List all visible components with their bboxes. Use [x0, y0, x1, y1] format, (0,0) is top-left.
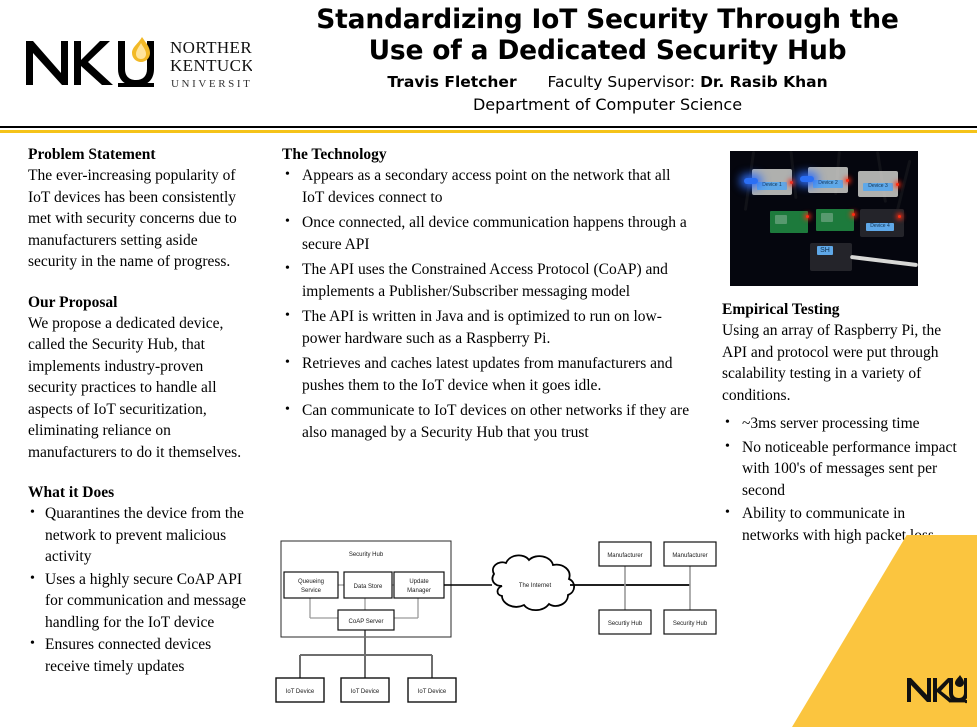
diagram-label-queueing-service-l1: Queueing: [298, 579, 324, 585]
spacer: [28, 273, 250, 293]
photo-device-label-1: Device 1: [757, 182, 787, 190]
supervisor-label: Faculty Supervisor:: [548, 73, 696, 91]
photo-device-label-5: SH: [817, 246, 833, 255]
list-the-technology: Appears as a secondary access point on t…: [282, 165, 694, 443]
page-title-line-1: Standardizing IoT Security Through the: [250, 4, 965, 35]
list-item: The API uses the Constrained Access Prot…: [282, 259, 694, 302]
poster-canvas: NORTHERN KENTUCKY UNIVERSITY Standardizi…: [0, 0, 977, 727]
poster-header: NORTHERN KENTUCKY UNIVERSITY Standardizi…: [0, 0, 977, 127]
diagram-label-manufacturer-2: Manufacturer: [672, 553, 707, 559]
diagram-label-update-manager-l2: Manager: [407, 588, 431, 594]
page-title-line-2: Use of a Dedicated Security Hub: [250, 35, 965, 66]
supervisor-name: Dr. Rasib Khan: [700, 73, 828, 91]
list-item: ~3ms server processing time: [722, 413, 962, 435]
nku-logo-svg: NORTHERN KENTUCKY UNIVERSITY: [22, 33, 252, 93]
spacer: [28, 463, 250, 483]
photo-device-label-3: Device 3: [863, 183, 893, 191]
list-item: Retrieves and caches latest updates from…: [282, 353, 694, 396]
photo-device-label-2: Device 2: [813, 180, 843, 188]
byline: Travis Fletcher Faculty Supervisor: Dr. …: [250, 72, 965, 93]
list-item: Uses a highly secure CoAP API for commun…: [28, 569, 250, 634]
left-column: Problem Statement The ever-increasing po…: [28, 145, 250, 678]
header-rule-black: [0, 126, 977, 128]
diagram-label-internet: The Internet: [519, 583, 552, 589]
middle-column: The Technology Appears as a secondary ac…: [282, 145, 694, 447]
diagram-label-coap-server: CoAP Server: [349, 619, 384, 625]
logo-line-1: NORTHERN: [170, 38, 252, 57]
heading-problem-statement: Problem Statement: [28, 145, 250, 164]
diagram-label-iot-device-1: IoT Device: [286, 689, 315, 695]
diagram-label-manufacturer-1: Manufacturer: [607, 553, 642, 559]
header-rule-gold: [0, 130, 977, 133]
text-our-proposal: We propose a dedicated device, called th…: [28, 313, 250, 464]
diagram-label-queueing-service-l2: Service: [301, 588, 322, 594]
logo-line-3: UNIVERSITY: [171, 78, 252, 90]
title-block: Standardizing IoT Security Through the U…: [250, 4, 965, 115]
department-name: Department of Computer Science: [250, 95, 965, 115]
text-problem-statement: The ever-increasing popularity of IoT de…: [28, 165, 250, 273]
list-item: Can communicate to IoT devices on other …: [282, 400, 694, 443]
heading-empirical-testing: Empirical Testing: [722, 300, 962, 319]
list-item: The API is written in Java and is optimi…: [282, 306, 694, 349]
diagram-label-iot-device-3: IoT Device: [418, 689, 447, 695]
nku-corner-logo-svg: [905, 675, 967, 705]
raspberry-pi-array-photo: Device 1 Device 2 Device 3 Device 4 SH: [730, 151, 918, 286]
diagram-label-update-manager-l1: Update: [409, 579, 429, 585]
nku-logo: NORTHERN KENTUCKY UNIVERSITY: [22, 33, 252, 93]
architecture-diagram: Security Hub Queueing Service Data Store…: [270, 530, 730, 722]
heading-what-it-does: What it Does: [28, 483, 250, 502]
list-item: Quarantines the device from the network …: [28, 503, 250, 568]
photo-device-label-4: Device 4: [866, 223, 894, 231]
list-item: Ensures connected devices receive timely…: [28, 634, 250, 677]
heading-the-technology: The Technology: [282, 145, 694, 164]
diagram-label-data-store: Data Store: [354, 584, 383, 590]
nku-corner-logo: [905, 675, 967, 705]
list-item: Appears as a secondary access point on t…: [282, 165, 694, 208]
logo-line-2: KENTUCKY: [170, 56, 252, 75]
diagram-label-remote-hub-2: Security Hub: [673, 621, 708, 627]
right-column: Empirical Testing Using an array of Rasp…: [722, 300, 962, 548]
list-item: Once connected, all device communication…: [282, 212, 694, 255]
list-what-it-does: Quarantines the device from the network …: [28, 503, 250, 677]
diagram-label-iot-device-2: IoT Device: [351, 689, 380, 695]
list-empirical-testing: ~3ms server processing time No noticeabl…: [722, 413, 962, 546]
author-name: Travis Fletcher: [387, 73, 516, 91]
heading-our-proposal: Our Proposal: [28, 293, 250, 312]
text-empirical-testing: Using an array of Raspberry Pi, the API …: [722, 320, 962, 406]
list-item: No noticeable performance impact with 10…: [722, 437, 962, 502]
architecture-diagram-svg: Security Hub Queueing Service Data Store…: [270, 530, 730, 722]
diagram-label-remote-hub-1: Securtiy Hub: [608, 621, 643, 627]
diagram-label-security-hub: Security Hub: [349, 552, 384, 558]
